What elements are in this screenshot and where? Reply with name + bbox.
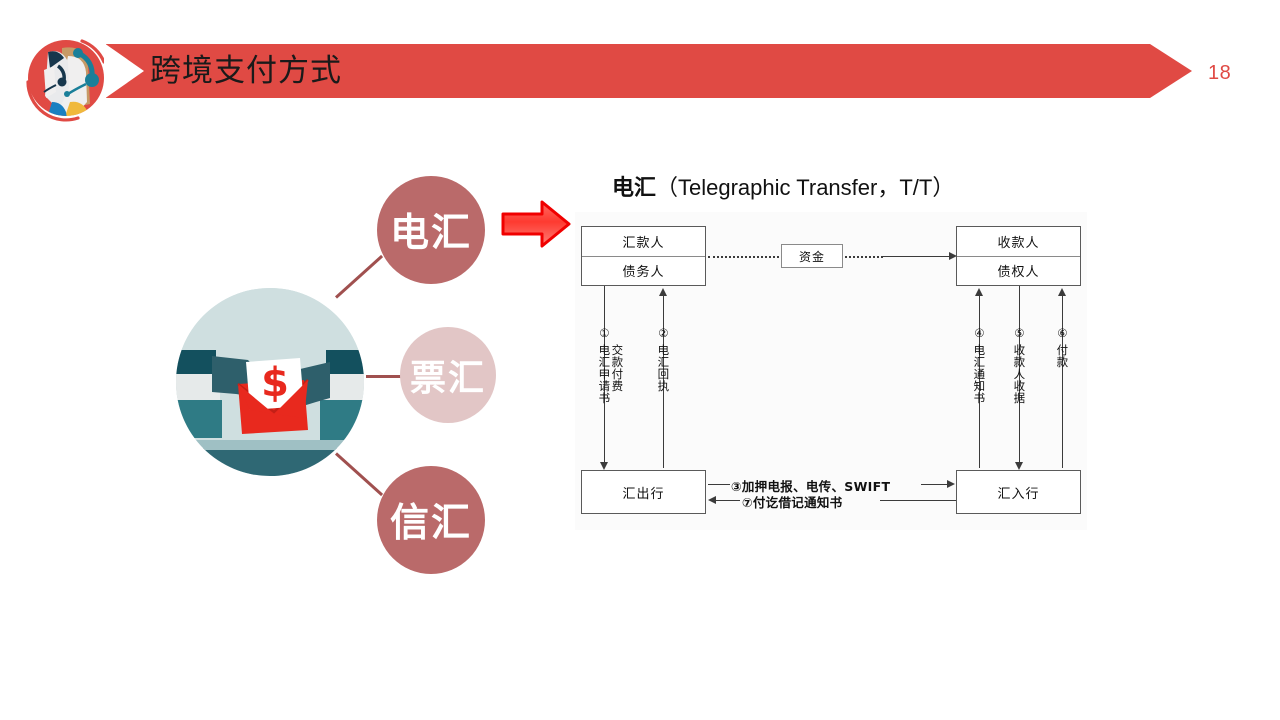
flow-7-line-left [716, 500, 740, 501]
flow-1-arrowhead [600, 462, 608, 470]
connector-line-3 [335, 452, 383, 496]
diagram-title-cn: 电汇 [612, 175, 656, 200]
node-remitting-bank: 汇出行 [581, 470, 706, 514]
flow-5-number: ⑤ [1013, 326, 1025, 341]
flow-1-label-b: 交款付费 [611, 344, 623, 392]
node-remitter-line1: 汇款人 [582, 227, 705, 256]
flow-6-label: 付款 [1056, 344, 1068, 368]
logo-icon [18, 32, 114, 128]
flow-5-label: 收款人收据 [1013, 344, 1025, 404]
flow-2-arrowhead [659, 288, 667, 296]
flow-funds-dotted-left [708, 256, 779, 258]
node-payee-line1: 收款人 [957, 227, 1080, 256]
customer-service-headset-logo [18, 32, 114, 128]
node-remitter-line2: 债务人 [582, 256, 705, 286]
red-block-arrow-icon [500, 198, 572, 250]
flow-funds-dotted-right [845, 256, 883, 258]
flow-4-number: ④ [973, 326, 985, 341]
page-title: 跨境支付方式 [150, 50, 342, 92]
flow-3-arrowhead [947, 480, 955, 488]
flow-funds-solid-right [881, 256, 951, 257]
flow-7-line-right [880, 500, 956, 501]
node-payee-line2: 债权人 [957, 256, 1080, 286]
flow-2-number: ② [657, 326, 669, 341]
flow-6-arrowhead [1058, 288, 1066, 296]
flow-1-label-a: 电汇申请书 [598, 344, 610, 404]
node-funds: 资金 [781, 244, 843, 268]
flow-funds-arrowhead [949, 252, 957, 260]
slide-canvas: 跨境支付方式 18 $ [0, 0, 1280, 720]
flow-3-line-right [921, 484, 949, 485]
flow-6-number: ⑥ [1056, 326, 1068, 341]
diagram-title: 电汇（Telegraphic Transfer，T/T） [612, 170, 954, 202]
handshake-money-image: $ [176, 288, 364, 476]
flow-4-arrowhead [975, 288, 983, 296]
flow-4-label: 电汇通知书 [973, 344, 985, 404]
page-number: 18 [1208, 62, 1231, 85]
node-payee: 收款人 债权人 [956, 226, 1081, 286]
category-label-piaohui: 票汇 [410, 349, 486, 401]
flow-5-arrowhead [1015, 462, 1023, 470]
flow-7-label: ⑦付讫借记通知书 [742, 492, 842, 511]
flow-2-label: 电汇回执 [657, 344, 669, 392]
flow-1-number: ① [598, 326, 610, 341]
svg-text:$: $ [261, 360, 289, 406]
flow-3-line-left [708, 484, 730, 485]
category-label-xinhui: 信汇 [390, 492, 472, 548]
flow-6-line [1062, 296, 1063, 468]
node-remitter: 汇款人 债务人 [581, 226, 706, 286]
category-circle-piaohui[interactable]: 票汇 [400, 327, 496, 423]
node-paying-bank: 汇入行 [956, 470, 1081, 514]
flow-7-arrowhead [708, 496, 716, 504]
telegraphic-transfer-flow-diagram: 汇款人 债务人 收款人 债权人 资金 汇出行 汇入行 ① 电汇申请书 交款付费 … [575, 212, 1087, 530]
category-circle-xinhui[interactable]: 信汇 [377, 466, 485, 574]
connector-line-1 [335, 255, 383, 299]
category-label-dianhui: 电汇 [390, 202, 472, 258]
category-circle-dianhui[interactable]: 电汇 [377, 176, 485, 284]
diagram-title-en: （Telegraphic Transfer，T/T） [656, 175, 954, 200]
hands-exchange-envelope-icon: $ [176, 288, 364, 476]
